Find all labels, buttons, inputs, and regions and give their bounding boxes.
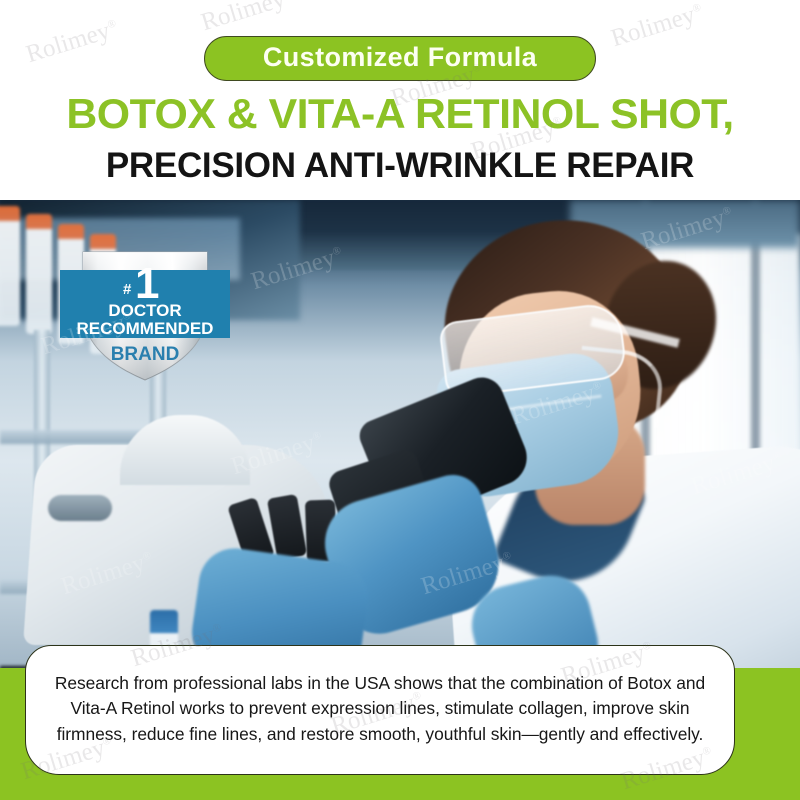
description-text: Research from professional labs in the U… [48, 671, 712, 748]
badge-hash: # [123, 281, 132, 298]
reagent-tube [26, 214, 52, 334]
microscope-focus-knob [48, 495, 112, 521]
headline-secondary: PRECISION ANTI-WRINKLE REPAIR [0, 148, 800, 183]
head [390, 220, 690, 540]
reagent-tube [0, 206, 20, 326]
badge-line-recommended: RECOMMENDED [77, 319, 214, 338]
product-ad-card: Customized Formula BOTOX & VITA-A RETINO… [0, 0, 800, 800]
badge-line-brand: BRAND [111, 344, 180, 365]
description-panel: Research from professional labs in the U… [25, 645, 735, 775]
customized-formula-badge: Customized Formula [204, 36, 596, 81]
pill-container: Customized Formula [0, 36, 800, 81]
scientist-figure [300, 200, 800, 675]
doctor-recommended-badge: # 1 DOCTOR RECOMMENDED BRAND [55, 238, 235, 386]
headline-primary: BOTOX & VITA-A RETINOL SHOT, [0, 93, 800, 135]
badge-line-doctor: DOCTOR [108, 301, 181, 320]
header-section: Customized Formula BOTOX & VITA-A RETINO… [0, 0, 800, 200]
